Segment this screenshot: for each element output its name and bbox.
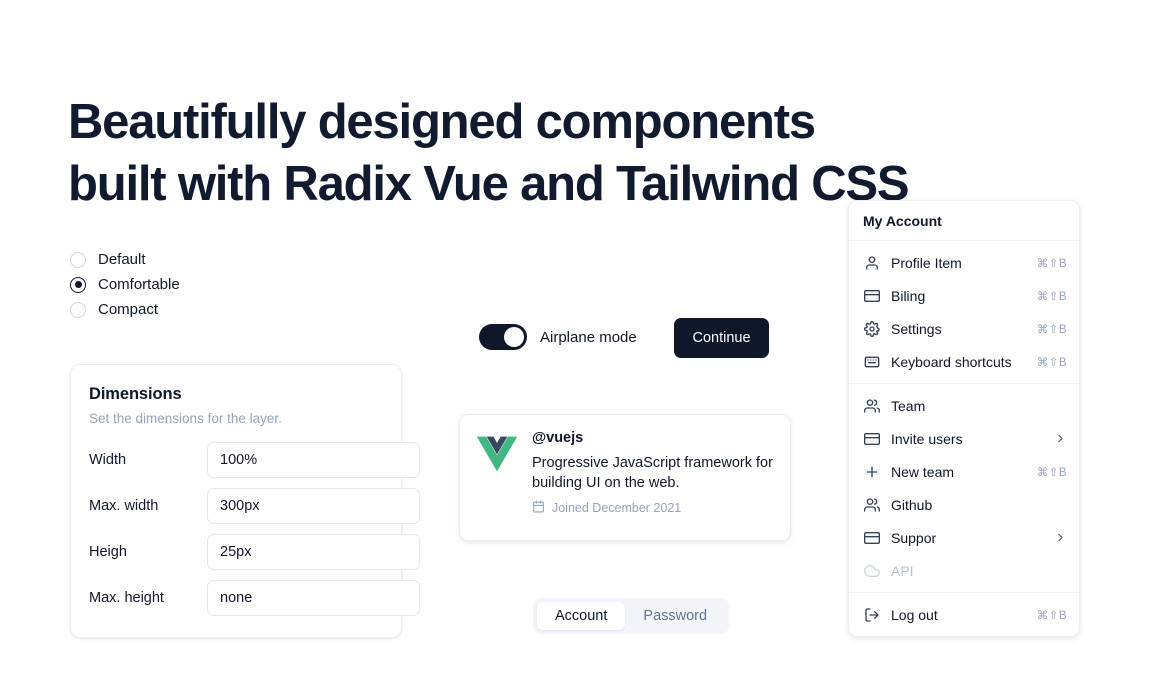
menu-item-shortcut: ⌘⇧B [1037, 355, 1067, 369]
menu-group: TeamInvite usersNew team⌘⇧BGithubSupporA… [849, 384, 1079, 592]
menu-item-label: Keyboard shortcuts [891, 354, 1037, 370]
radio-label: Comfortable [98, 277, 180, 292]
users-icon [863, 397, 880, 414]
calendar-icon [532, 500, 545, 516]
plus-icon [863, 463, 880, 480]
radio-label: Default [98, 252, 146, 267]
vue-joined-label: Joined December 2021 [552, 501, 681, 515]
menu-group: Log out⌘⇧B [849, 593, 1079, 636]
credit-card-icon [863, 430, 880, 447]
dimension-label: Max. width [89, 498, 207, 514]
menu-item-shortcut: ⌘⇧B [1037, 322, 1067, 336]
tab-account[interactable]: Account [537, 602, 625, 630]
airplane-mode-row: Airplane mode [479, 324, 637, 350]
hover-card-body: @vuejs Progressive JavaScript framework … [532, 430, 774, 525]
vue-joined-row: Joined December 2021 [532, 500, 774, 516]
menu-item-shortcut: ⌘⇧B [1037, 289, 1067, 303]
dimension-input[interactable] [207, 488, 420, 524]
menu-item-label: Github [891, 497, 1067, 513]
logout-icon [863, 606, 880, 623]
airplane-mode-switch[interactable] [479, 324, 527, 350]
menu-item-label: Biling [891, 288, 1037, 304]
menu-item-shortcut: ⌘⇧B [1037, 608, 1067, 622]
dimension-input[interactable] [207, 442, 420, 478]
menu-item-shortcut: ⌘⇧B [1037, 256, 1067, 270]
density-radio-group: DefaultComfortableCompact [70, 247, 180, 322]
menu-item-label: Team [891, 398, 1067, 414]
menu-header: My Account [849, 201, 1079, 240]
dimension-field-row: Max. height [89, 580, 383, 616]
menu-item-settings[interactable]: Settings⌘⇧B [849, 312, 1079, 345]
menu-item-label: API [891, 563, 1067, 579]
menu-item-label: Settings [891, 321, 1037, 337]
dimension-label: Heigh [89, 544, 207, 560]
radio-label: Compact [98, 302, 158, 317]
credit-card-icon [863, 287, 880, 304]
dimension-input[interactable] [207, 580, 420, 616]
dimension-label: Max. height [89, 590, 207, 606]
dimensions-subtitle: Set the dimensions for the layer. [89, 411, 383, 426]
radio-indicator[interactable] [70, 277, 86, 293]
page-title-line-1: Beautifully designed components [68, 91, 1028, 153]
radio-option[interactable]: Compact [70, 297, 180, 322]
radio-option[interactable]: Comfortable [70, 272, 180, 297]
dimension-field-row: Max. width [89, 488, 383, 524]
menu-item-suppor[interactable]: Suppor [849, 521, 1079, 554]
page-title: Beautifully designed components built wi… [68, 91, 1028, 215]
menu-item-new-team[interactable]: New team⌘⇧B [849, 455, 1079, 488]
account-dropdown-menu: My Account Profile Item⌘⇧BBiling⌘⇧BSetti… [848, 200, 1080, 637]
dimension-field-row: Heigh [89, 534, 383, 570]
menu-item-shortcut: ⌘⇧B [1037, 465, 1067, 479]
menu-item-biling[interactable]: Biling⌘⇧B [849, 279, 1079, 312]
vue-description: Progressive JavaScript framework for bui… [532, 453, 774, 493]
switch-knob [504, 327, 524, 347]
menu-item-label: Profile Item [891, 255, 1037, 271]
menu-item-label: New team [891, 464, 1037, 480]
gear-icon [863, 320, 880, 337]
chevron-right-icon [1054, 432, 1067, 445]
menu-item-profile-item[interactable]: Profile Item⌘⇧B [849, 246, 1079, 279]
user-icon [863, 254, 880, 271]
page-root: Beautifully designed components built wi… [0, 0, 1152, 700]
chevron-right-icon [1054, 531, 1067, 544]
dimension-input[interactable] [207, 534, 420, 570]
airplane-mode-label: Airplane mode [540, 329, 637, 346]
menu-item-keyboard-shortcuts[interactable]: Keyboard shortcuts⌘⇧B [849, 345, 1079, 378]
keyboard-icon [863, 353, 880, 370]
menu-item-invite-users[interactable]: Invite users [849, 422, 1079, 455]
menu-item-api: API [849, 554, 1079, 587]
radio-option[interactable]: Default [70, 247, 180, 272]
dimensions-card: Dimensions Set the dimensions for the la… [70, 364, 402, 638]
menu-item-label: Suppor [891, 530, 1054, 546]
dimension-label: Width [89, 452, 207, 468]
menu-item-log-out[interactable]: Log out⌘⇧B [849, 598, 1079, 631]
menu-group: Profile Item⌘⇧BBiling⌘⇧BSettings⌘⇧BKeybo… [849, 241, 1079, 383]
menu-item-team[interactable]: Team [849, 389, 1079, 422]
menu-item-label: Invite users [891, 431, 1054, 447]
settings-tabs: AccountPassword [533, 598, 729, 634]
users-icon [863, 496, 880, 513]
dimension-field-row: Width [89, 442, 383, 478]
credit-card-icon [863, 529, 880, 546]
menu-groups: Profile Item⌘⇧BBiling⌘⇧BSettings⌘⇧BKeybo… [849, 241, 1079, 636]
dimensions-title: Dimensions [89, 385, 383, 404]
menu-item-github[interactable]: Github [849, 488, 1079, 521]
radio-indicator[interactable] [70, 252, 86, 268]
radio-indicator[interactable] [70, 302, 86, 318]
menu-item-label: Log out [891, 607, 1037, 623]
dimensions-fields: WidthMax. widthHeighMax. height [89, 442, 383, 616]
vue-handle: @vuejs [532, 430, 774, 446]
vue-hover-card: @vuejs Progressive JavaScript framework … [459, 414, 791, 541]
tab-password[interactable]: Password [625, 602, 725, 630]
continue-button[interactable]: Continue [674, 318, 769, 358]
cloud-icon [863, 562, 880, 579]
vue-logo-icon [476, 434, 518, 474]
